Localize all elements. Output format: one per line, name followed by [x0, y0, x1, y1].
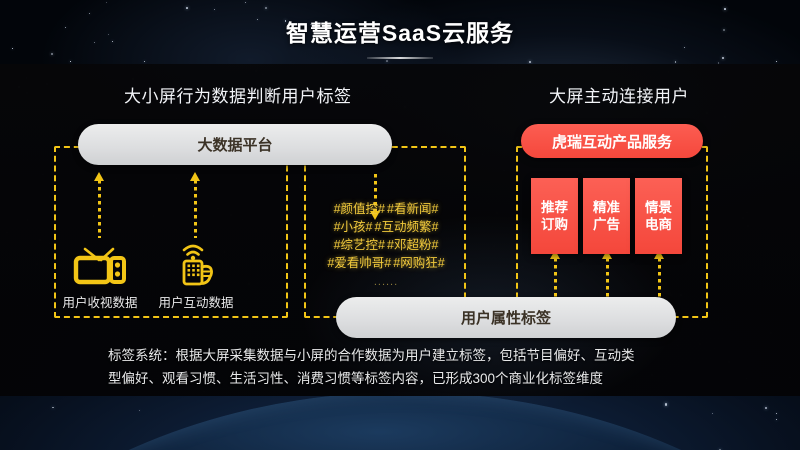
slide-canvas: 智慧运营SaaS云服务 大小屏行为数据判断用户标签 大屏主动连接用户 大数据平台…	[0, 0, 800, 450]
tag-ellipsis: ......	[306, 276, 466, 288]
data-source-tv-label: 用户收视数据	[52, 292, 148, 311]
arrow-up-remote-to-platform	[194, 180, 197, 238]
user-tag[interactable]: #网购狂#	[393, 255, 444, 272]
product-box-scenario-ecommerce[interactable]: 情景 电商	[635, 178, 682, 254]
data-source-remote-label: 用户互动数据	[148, 292, 244, 311]
user-tag[interactable]: #综艺控#	[334, 237, 385, 254]
user-tag[interactable]: #颜值控#	[334, 201, 385, 218]
tag-row: #爱看帅哥##网购狂#	[306, 254, 466, 272]
user-tag[interactable]: #互动频繁#	[375, 219, 439, 236]
remote-control-icon	[168, 238, 224, 286]
product-box-recommend-order[interactable]: 推荐 订购	[531, 178, 578, 254]
user-attribute-tags-pill[interactable]: 用户属性标签	[336, 297, 676, 338]
title-underline	[367, 57, 433, 59]
product-box-line2: 广告	[593, 216, 620, 233]
data-source-remote: 用户互动数据	[148, 238, 244, 311]
product-service-pill[interactable]: 虎瑞互动产品服务	[521, 124, 703, 158]
section-heading-right: 大屏主动连接用户	[549, 82, 689, 107]
product-box-line1: 情景	[645, 199, 672, 216]
section-heading-left: 大小屏行为数据判断用户标签	[124, 82, 352, 107]
user-tag[interactable]: #邓超粉#	[387, 237, 438, 254]
arrow-up-tags-to-product-3	[658, 258, 661, 298]
tag-row: #小孩##互动频繁#	[306, 218, 466, 236]
tv-icon	[72, 238, 128, 286]
arrow-up-tags-to-product-1	[554, 258, 557, 298]
user-tag[interactable]: #爱看帅哥#	[327, 255, 391, 272]
user-tag[interactable]: #小孩#	[334, 219, 373, 236]
arrow-up-tv-to-platform	[98, 180, 101, 238]
tag-row: #综艺控##邓超粉#	[306, 236, 466, 254]
page-title: 智慧运营SaaS云服务	[0, 14, 800, 48]
product-box-line1: 推荐	[541, 199, 568, 216]
product-box-precise-ads[interactable]: 精准 广告	[583, 178, 630, 254]
arrow-up-tags-to-product-2	[606, 258, 609, 298]
data-source-tv: 用户收视数据	[52, 238, 148, 311]
description-text: 标签系统：根据大屏采集数据与小屏的合作数据为用户建立标签，包括节目偏好、互动类型…	[108, 344, 644, 390]
product-box-line2: 电商	[645, 216, 672, 233]
user-tag[interactable]: #看新闻#	[387, 201, 438, 218]
page-title-block: 智慧运营SaaS云服务	[0, 14, 800, 59]
big-data-platform-pill[interactable]: 大数据平台	[78, 124, 392, 165]
product-box-line1: 精准	[593, 199, 620, 216]
user-tag-cloud: #颜值控##看新闻##小孩##互动频繁##综艺控##邓超粉##爱看帅哥##网购狂…	[306, 200, 466, 288]
product-box-line2: 订购	[541, 216, 568, 233]
tag-row: #颜值控##看新闻#	[306, 200, 466, 218]
